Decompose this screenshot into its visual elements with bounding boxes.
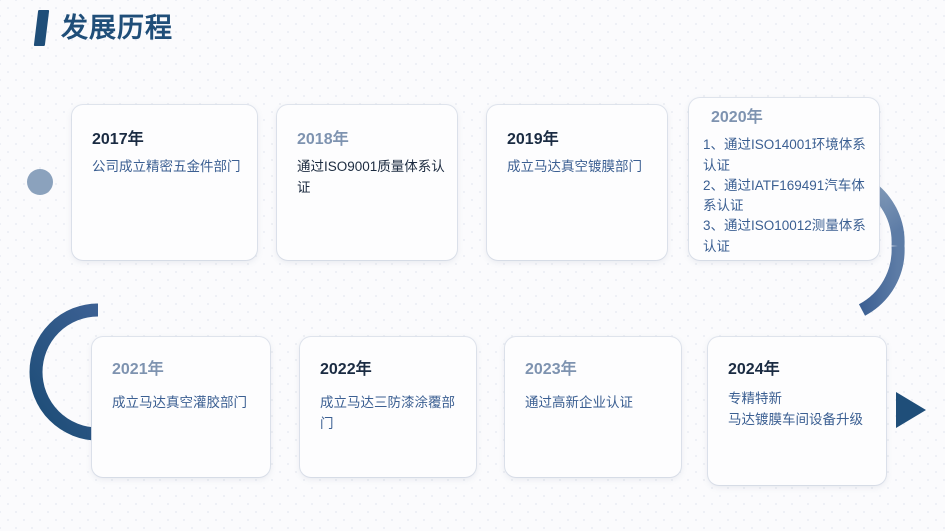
milestone-body-2019: 成立马达真空镀膜部门 bbox=[507, 157, 655, 178]
milestone-year-2021: 2021年 bbox=[112, 361, 258, 379]
milestone-body-2024: 专精特新 马达镀膜车间设备升级 bbox=[728, 389, 874, 430]
milestone-items-2020: 1、通过ISO14001环境体系认证 2、通过IATF169491汽车体系认证 … bbox=[703, 135, 871, 257]
milestone-item-2020-2: 2、通过IATF169491汽车体系认证 bbox=[703, 176, 871, 217]
milestone-card-2017[interactable]: 2017年 公司成立精密五金件部门 bbox=[72, 105, 257, 260]
milestone-body-2018: 通过ISO9001质量体系认证 bbox=[297, 157, 445, 198]
milestone-card-2024[interactable]: 2024年 专精特新 马达镀膜车间设备升级 bbox=[708, 337, 886, 485]
track-curve-left bbox=[36, 310, 98, 434]
title-accent-bar bbox=[34, 10, 49, 46]
milestone-card-2019[interactable]: 2019年 成立马达真空镀膜部门 bbox=[487, 105, 667, 260]
milestone-year-2022: 2022年 bbox=[320, 361, 464, 379]
page-title: 发展历程 bbox=[36, 10, 173, 46]
timeline-start-dot bbox=[27, 169, 53, 195]
milestone-card-2018[interactable]: 2018年 通过ISO9001质量体系认证 bbox=[277, 105, 457, 260]
milestone-year-2018: 2018年 bbox=[297, 131, 445, 149]
milestone-year-2020: 2020年 bbox=[711, 109, 871, 127]
timeline-infographic: 发展历程 bbox=[0, 0, 945, 531]
milestone-item-2020-3: 3、通过ISO10012测量体系认证 bbox=[703, 216, 871, 257]
milestone-body-2022: 成立马达三防漆涂覆部门 bbox=[320, 393, 464, 434]
milestone-card-2022[interactable]: 2022年 成立马达三防漆涂覆部门 bbox=[300, 337, 476, 477]
milestone-year-2017: 2017年 bbox=[92, 131, 245, 149]
milestone-body-2023: 通过高新企业认证 bbox=[525, 393, 669, 414]
milestone-year-2024: 2024年 bbox=[728, 361, 874, 379]
milestone-body-2017: 公司成立精密五金件部门 bbox=[92, 157, 245, 178]
milestone-card-2023[interactable]: 2023年 通过高新企业认证 bbox=[505, 337, 681, 477]
milestone-year-2019: 2019年 bbox=[507, 131, 655, 149]
milestone-card-2020[interactable]: 2020年 1、通过ISO14001环境体系认证 2、通过IATF169491汽… bbox=[689, 98, 879, 260]
milestone-card-2021[interactable]: 2021年 成立马达真空灌胶部门 bbox=[92, 337, 270, 477]
milestone-item-2020-1: 1、通过ISO14001环境体系认证 bbox=[703, 135, 871, 176]
timeline-arrow-head-icon bbox=[896, 392, 926, 428]
page-title-text: 发展历程 bbox=[61, 15, 173, 42]
milestone-body-2021: 成立马达真空灌胶部门 bbox=[112, 393, 258, 414]
milestone-year-2023: 2023年 bbox=[525, 361, 669, 379]
